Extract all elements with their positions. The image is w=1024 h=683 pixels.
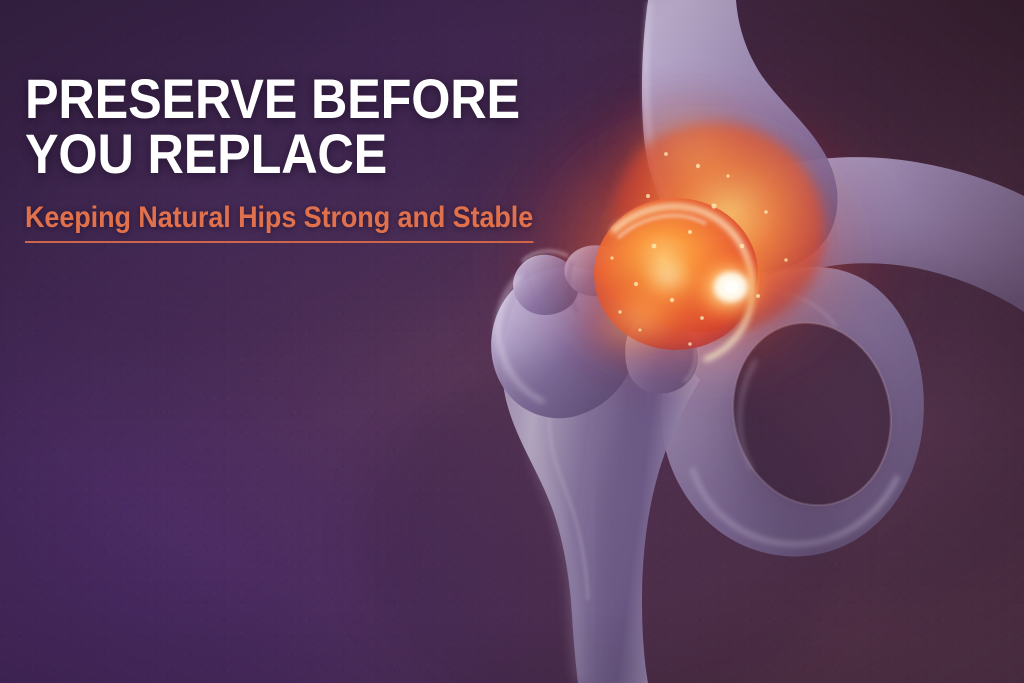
subtitle-wrap: Keeping Natural Hips Strong and Stable [25,201,533,243]
hero-banner: PRESERVE BEFORE YOU REPLACE Keeping Natu… [0,0,1024,683]
page-subtitle: Keeping Natural Hips Strong and Stable [25,201,533,241]
page-title: PRESERVE BEFORE YOU REPLACE [25,72,529,182]
headline-block: PRESERVE BEFORE YOU REPLACE Keeping Natu… [25,72,585,243]
subtitle-underline [25,241,533,243]
